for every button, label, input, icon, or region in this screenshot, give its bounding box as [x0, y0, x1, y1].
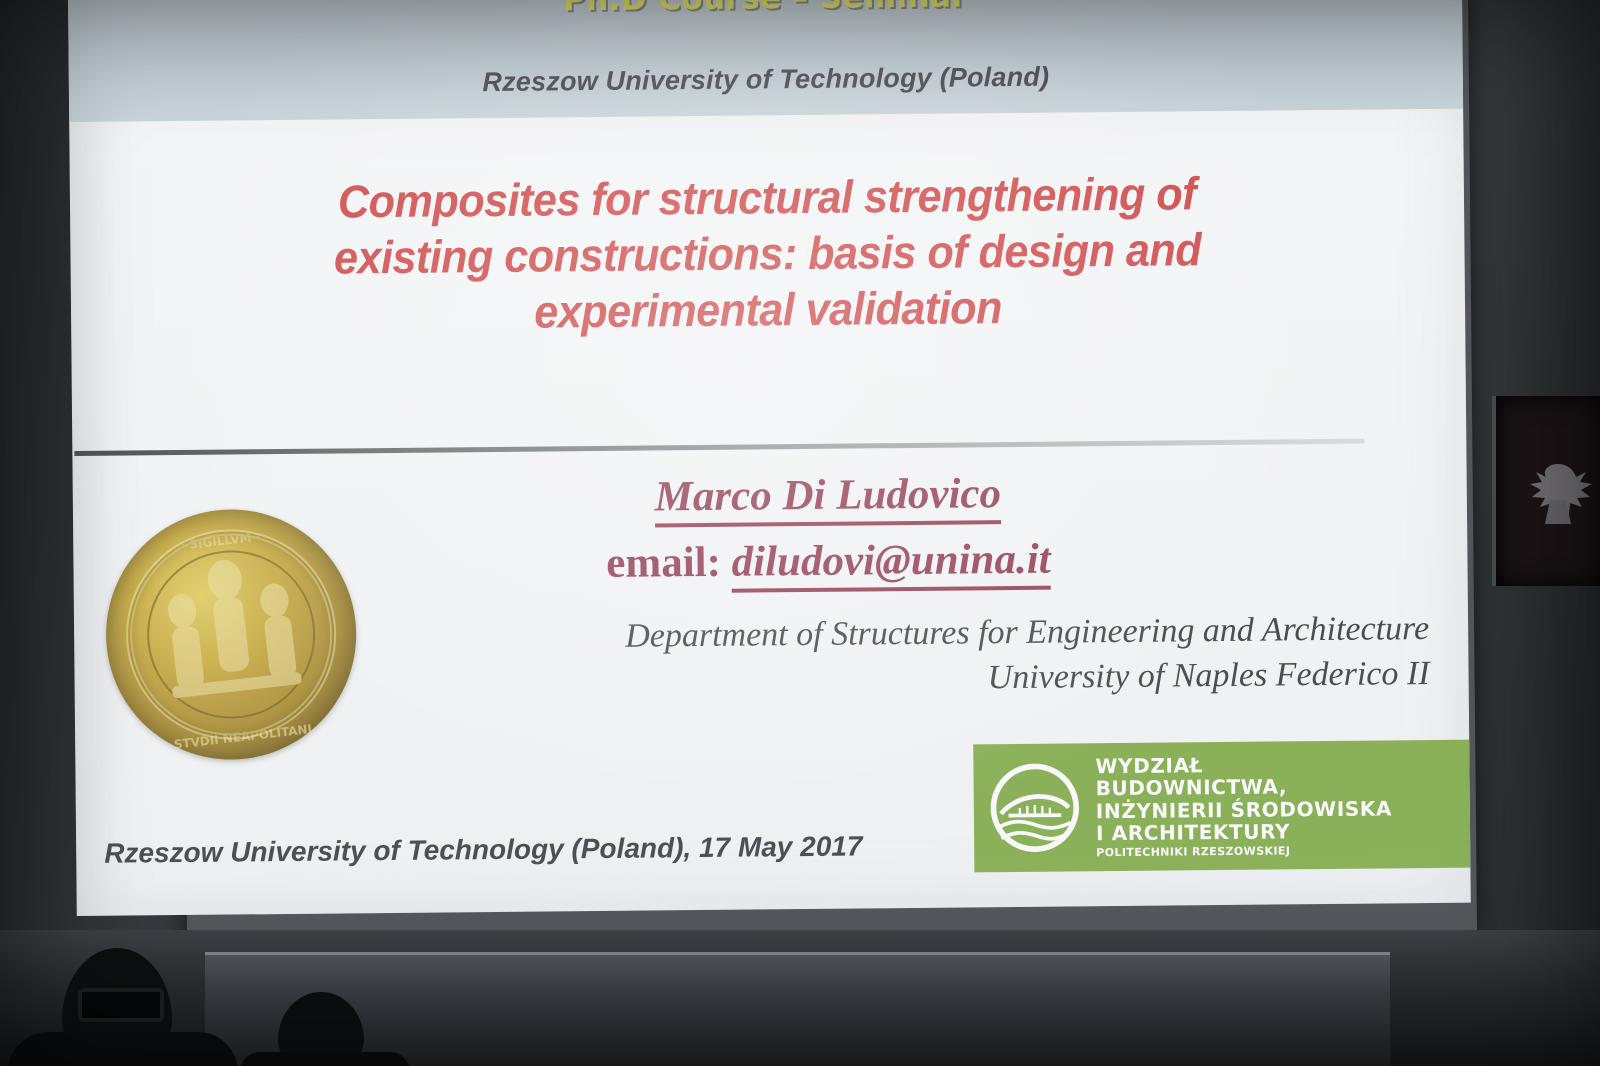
projection-screen-frame: Ph.D Course – Seminar Rzeszow University… — [178, 0, 1477, 944]
seal-ring — [125, 529, 337, 741]
whiteboard-ledge — [205, 952, 1390, 1066]
author-email: email: diludovi@unina.it — [253, 531, 1403, 591]
lecture-hall-scene: Ph.D Course – Seminar Rzeszow University… — [0, 0, 1600, 1066]
logo-line-1: WYDZIAŁ — [1095, 752, 1391, 777]
faculty-logo-text: WYDZIAŁ BUDOWNICTWA, INŻYNIERII ŚRODOWIS… — [1095, 752, 1392, 859]
logo-line-4: I ARCHITEKTURY — [1096, 820, 1392, 845]
email-label: email: — [606, 539, 721, 587]
bridge-over-waves-icon — [987, 760, 1082, 855]
horizontal-divider — [74, 439, 1364, 456]
author-name-text: Marco Di Ludovico — [654, 470, 1001, 527]
university-seal: · SIGILLVM · STVDII NEAPOLITANI — [105, 508, 357, 760]
email-address: diludovi@unina.it — [731, 536, 1050, 593]
title-line-3: experimental validation — [150, 276, 1386, 344]
audience-person-shoulders — [8, 1032, 238, 1066]
author-name: Marco Di Ludovico — [253, 465, 1403, 525]
eagle-icon — [1514, 456, 1600, 536]
affiliation-university: University of Naples Federico II — [334, 651, 1429, 707]
audience-person-shoulders-2 — [240, 1052, 410, 1066]
slide-title: Composites for structural strengthening … — [149, 163, 1386, 343]
logo-line-3: INŻYNIERII ŚRODOWISKA — [1096, 797, 1392, 822]
presentation-slide: Ph.D Course – Seminar Rzeszow University… — [68, 0, 1471, 916]
eyeglasses-icon — [78, 988, 164, 1022]
slide-footer: Rzeszow University of Technology (Poland… — [104, 830, 863, 869]
faculty-logo: WYDZIAŁ BUDOWNICTWA, INŻYNIERII ŚRODOWIS… — [973, 740, 1470, 873]
logo-subline: POLITECHNIKI RZESZOWSKIEJ — [1096, 844, 1392, 859]
framed-polish-eagle-picture — [1492, 396, 1600, 586]
affiliation: Department of Structures for Engineering… — [334, 606, 1430, 707]
